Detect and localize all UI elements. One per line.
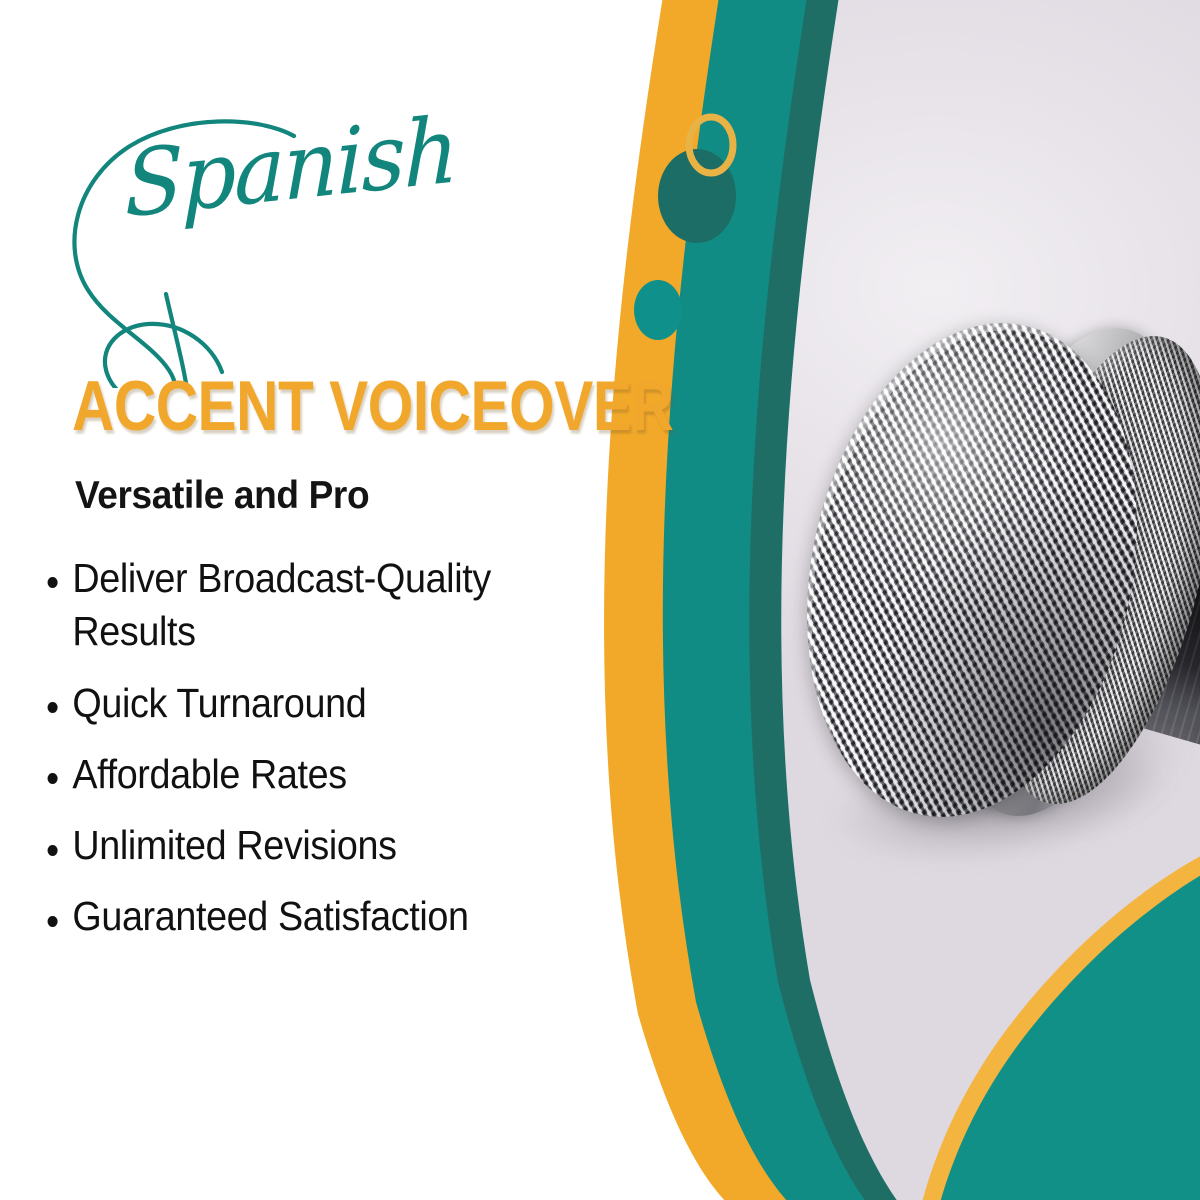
bullet-text: Quick Turnaround [72, 680, 366, 726]
feature-bullet-list: Deliver Broadcast-Quality Results Quick … [42, 552, 602, 962]
bottom-right-teal-swoosh [936, 862, 1200, 1200]
bullet-dot-icon [48, 845, 58, 856]
list-item: Quick Turnaround [42, 677, 557, 730]
text-content: Spanish ACCENT VOICEOVER Versatile and P… [0, 0, 640, 1200]
bullet-text: Unlimited Revisions [72, 822, 396, 868]
bullet-dot-icon [48, 577, 58, 588]
bullet-dot-icon [48, 702, 58, 713]
bullet-text: Guaranteed Satisfaction [72, 893, 468, 939]
bright-teal-circle [634, 280, 682, 340]
bullet-text: Affordable Rates [72, 751, 346, 797]
bullet-text: Deliver Broadcast-Quality Results [72, 555, 490, 654]
bullet-dot-icon [48, 773, 58, 784]
list-item: Unlimited Revisions [42, 819, 557, 872]
list-item: Guaranteed Satisfaction [42, 890, 557, 943]
headline-accent-voiceover: ACCENT VOICEOVER [72, 372, 673, 443]
poster-canvas: Spanish ACCENT VOICEOVER Versatile and P… [0, 0, 1200, 1200]
bullet-dot-icon [48, 916, 58, 927]
list-item: Deliver Broadcast-Quality Results [42, 552, 557, 659]
list-item: Affordable Rates [42, 748, 557, 801]
subheadline-versatile-and-pro: Versatile and Pro [75, 476, 369, 515]
